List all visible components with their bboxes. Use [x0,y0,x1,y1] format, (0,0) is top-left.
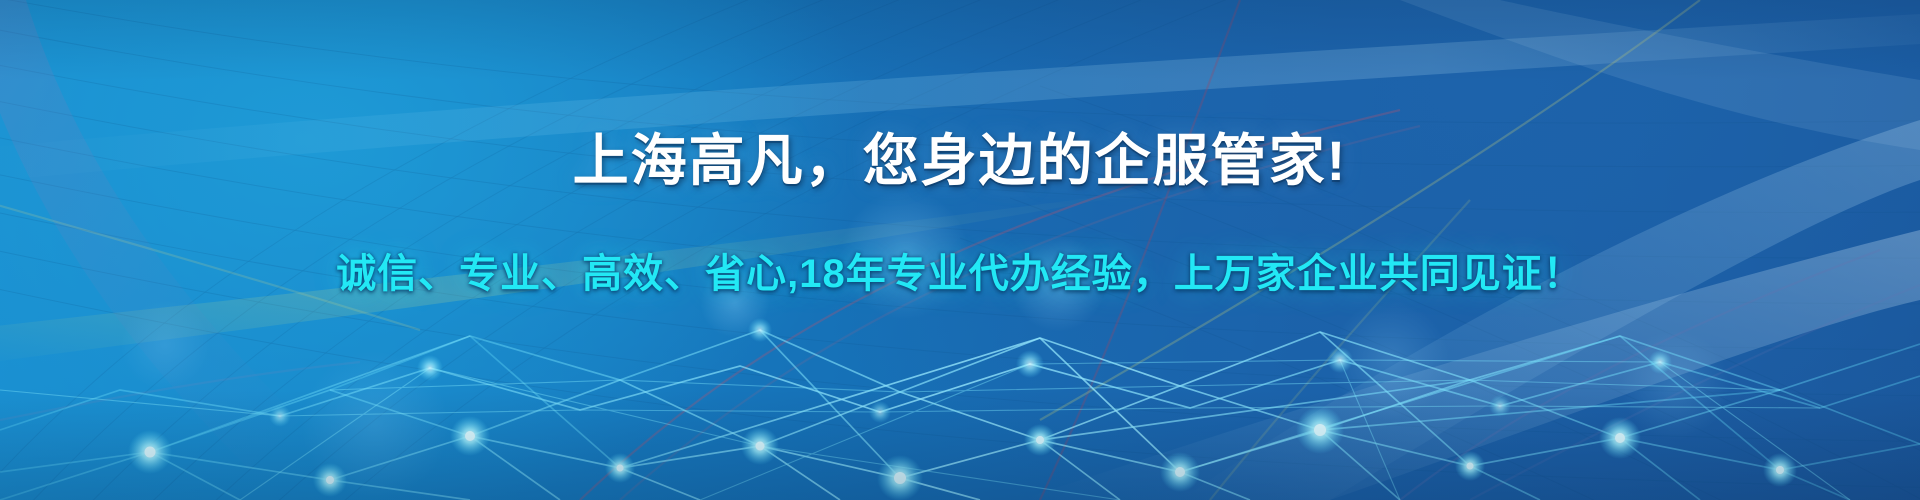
hero-banner: 上海高凡，您身边的企服管家! 诚信、专业、高效、省心,18年专业代办经验，上万家… [0,0,1920,500]
banner-headline: 上海高凡，您身边的企服管家! [573,116,1348,197]
banner-subheadline: 诚信、专业、高效、省心,18年专业代办经验，上万家企业共同见证！ [336,241,1584,299]
banner-text-block: 上海高凡，您身边的企服管家! 诚信、专业、高效、省心,18年专业代办经验，上万家… [0,0,1920,500]
